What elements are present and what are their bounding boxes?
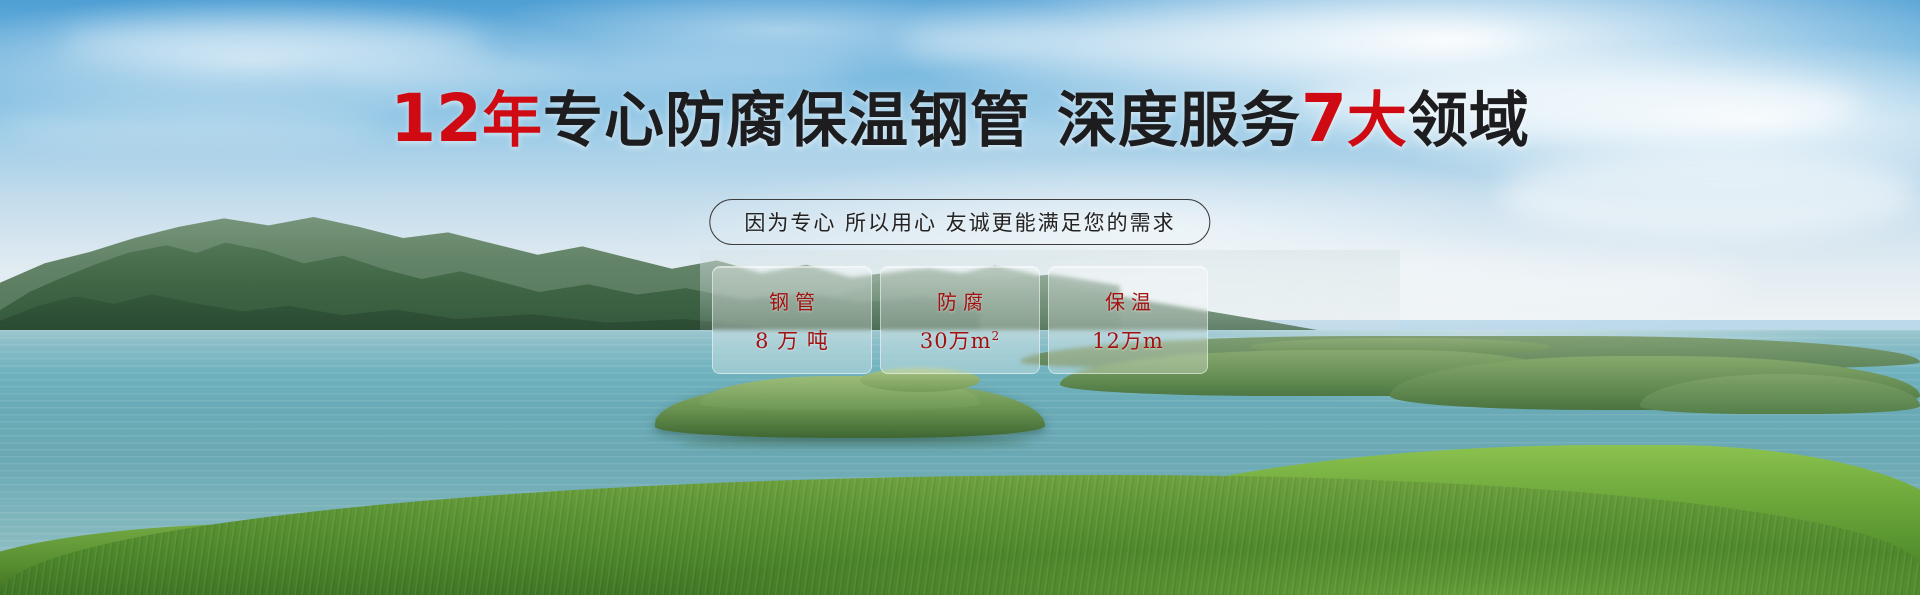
headline-fields-unit: 大 — [1347, 86, 1408, 156]
banner-subtitle-text: 因为专心 所以用心 友诚更能满足您的需求 — [744, 207, 1175, 237]
headline-fields-text: 领域 — [1408, 86, 1530, 156]
headline-service-text: 深度服务 — [1057, 86, 1301, 156]
banner-overlay: 12年专心防腐保温钢管深度服务7大领域 因为专心 所以用心 友诚更能满足您的需求… — [0, 0, 1920, 595]
headline-main-text: 专心防腐保温钢管 — [543, 86, 1031, 156]
stat-card-value: 30万m2 — [920, 325, 1000, 355]
stat-card-value-text: 12万m — [1092, 329, 1164, 353]
headline-fields-number: 7 — [1301, 80, 1347, 157]
hero-banner: 12年专心防腐保温钢管深度服务7大领域 因为专心 所以用心 友诚更能满足您的需求… — [0, 0, 1920, 595]
banner-subtitle-pill: 因为专心 所以用心 友诚更能满足您的需求 — [709, 199, 1210, 245]
stat-card-value-superscript: 2 — [992, 329, 1001, 343]
stat-card-group: 钢管 8 万 吨 防腐 30万m2 保温 12万m — [712, 266, 1208, 374]
stat-card-value-text: 8 万 吨 — [755, 329, 829, 353]
stat-card-value-text: 30万m — [920, 329, 992, 353]
stat-card-label: 防腐 — [931, 286, 989, 315]
stat-card-anticorrosion[interactable]: 防腐 30万m2 — [880, 266, 1040, 374]
headline-years-unit: 年 — [482, 86, 543, 156]
headline-years-number: 12 — [390, 80, 482, 157]
stat-card-steel-pipe[interactable]: 钢管 8 万 吨 — [712, 266, 872, 374]
stat-card-insulation[interactable]: 保温 12万m — [1048, 266, 1208, 374]
stat-card-value: 8 万 吨 — [755, 325, 829, 355]
stat-card-label: 保温 — [1099, 286, 1157, 315]
stat-card-value: 12万m — [1092, 325, 1164, 355]
stat-card-label: 钢管 — [763, 286, 821, 315]
banner-headline: 12年专心防腐保温钢管深度服务7大领域 — [0, 86, 1920, 152]
